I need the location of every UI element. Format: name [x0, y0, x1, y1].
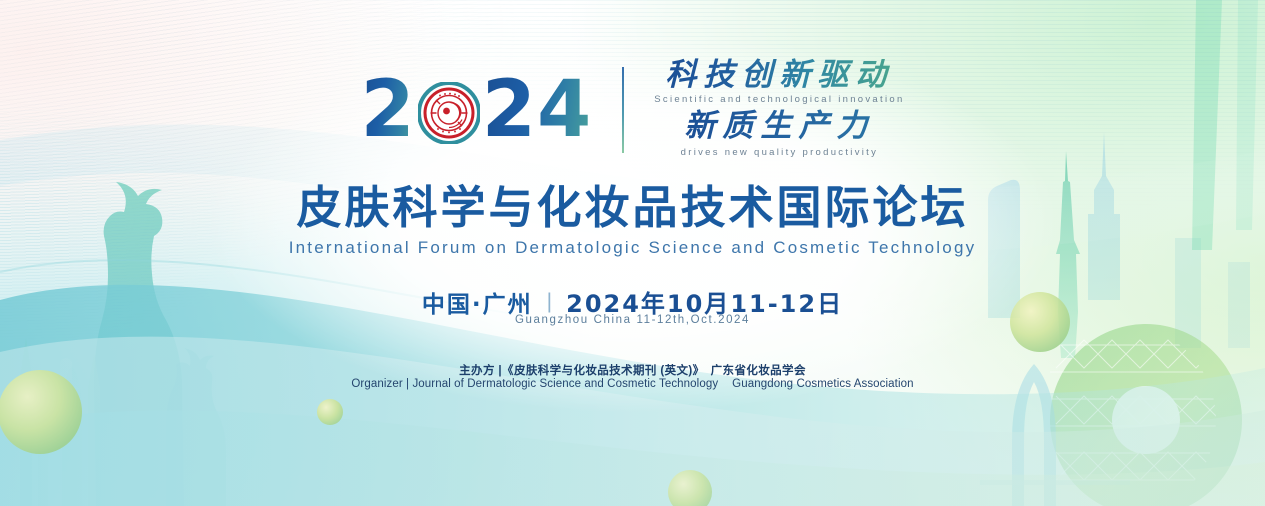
page-title-cn: 皮肤科学与化妆品技术国际论坛 [0, 183, 1265, 233]
year-digits-last: 24 [482, 71, 593, 149]
header-row: 2 [0, 58, 1265, 161]
slogan-block: 科技创新驱动 Scientific and technological inno… [654, 58, 904, 161]
organizer-en: Organizer | Journal of Dermatologic Scie… [0, 378, 1265, 390]
conference-banner: 2 [0, 0, 1265, 506]
slogan-line2-en: drives new quality productivity [681, 146, 879, 159]
circular-association-emblem-icon [418, 79, 480, 141]
event-meta-en: Guangzhou China 11-12th,Oct.2024 [0, 314, 1265, 326]
organizer-en-label: Organizer | Journal of Dermatologic Scie… [351, 378, 718, 390]
year-digit-first: 2 [360, 71, 415, 149]
slogan-line2-cn: 新质生产力 [684, 109, 874, 144]
year-logo: 2 [360, 71, 592, 149]
page-title-en: International Forum on Dermatologic Scie… [0, 238, 1265, 258]
header-divider [622, 67, 624, 153]
slogan-line1-cn: 科技创新驱动 [665, 58, 893, 93]
organizer-en-association: Guangdong Cosmetics Association [732, 378, 913, 390]
slogan-line1-en: Scientific and technological innovation [654, 93, 904, 106]
meta-separator: | [547, 290, 552, 314]
organizer-cn: 主办方 |《皮肤科学与化妆品技术期刊 (英文)》 广东省化妆品学会 [0, 362, 1265, 378]
